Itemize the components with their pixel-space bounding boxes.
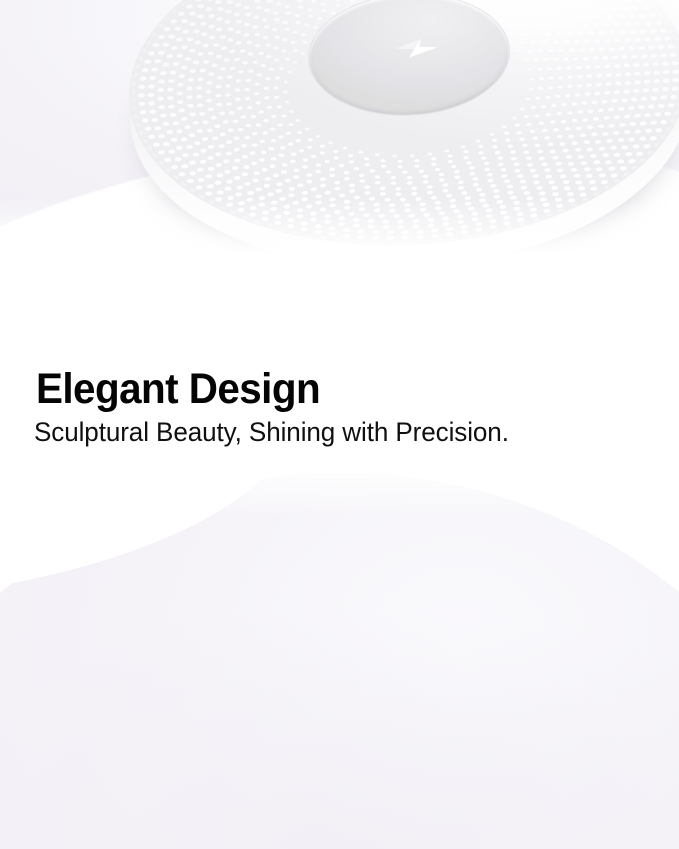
feature-text-block: Elegant Design Sculptural Beauty, Shinin… xyxy=(0,268,679,465)
page-title: Elegant Design xyxy=(36,368,320,411)
top-panel-fade xyxy=(0,198,679,268)
lightning-bolt-icon xyxy=(390,37,443,60)
product-feature-page: Elegant Design Sculptural Beauty, Shinin… xyxy=(0,0,679,849)
page-subtitle: Sculptural Beauty, Shining with Precisio… xyxy=(34,419,509,446)
hero-image-bottom xyxy=(0,465,679,849)
hero-image-top xyxy=(0,0,679,268)
